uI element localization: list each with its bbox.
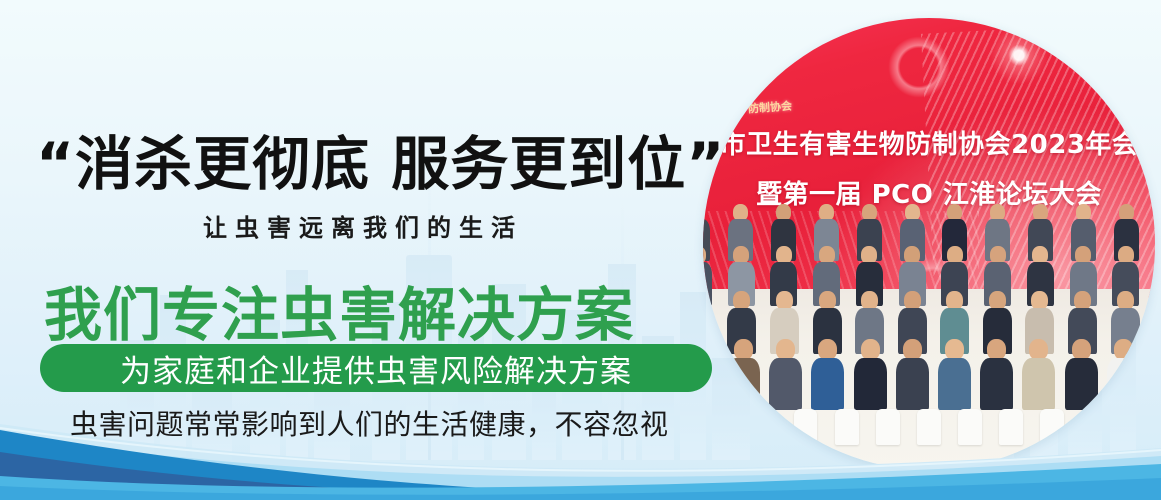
- footer-tagline: 虫害问题常常影响到人们的生活健康，不容忽视: [70, 403, 669, 443]
- sub-headline: 让虫害远离我们的生活: [203, 208, 523, 243]
- promo-banner: 防制协会 市卫生有害生物防制协会2023年会 暨第一届 PCO 江淮论坛大会: [0, 0, 1161, 500]
- service-pill-text: 为家庭和企业提供虫害风险解决方案: [120, 346, 632, 391]
- green-headline: 我们专注虫害解决方案: [44, 268, 634, 352]
- main-headline: “消杀更彻底 服务更到位”: [36, 117, 725, 201]
- service-pill: 为家庭和企业提供虫害风险解决方案: [40, 344, 712, 392]
- rosette-decoration: [884, 32, 954, 102]
- stage-banner-line-1: 市卫生有害生物防制协会2023年会: [703, 124, 1155, 161]
